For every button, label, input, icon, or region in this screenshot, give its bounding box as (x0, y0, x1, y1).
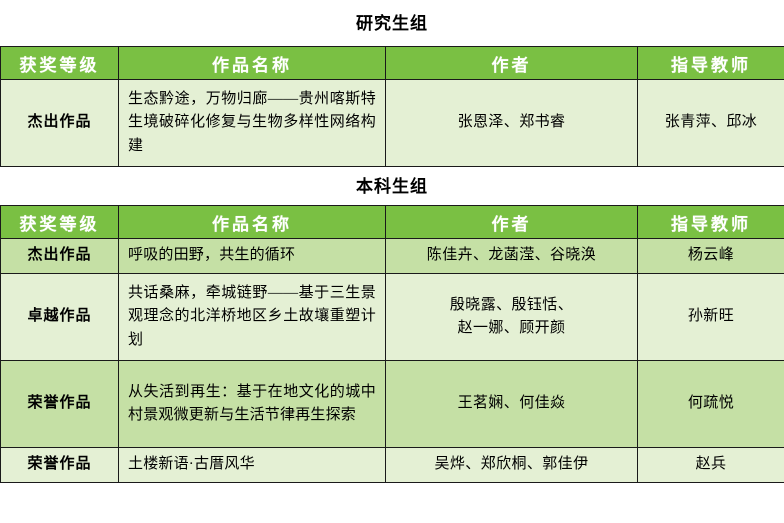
cell-award-level: 荣誉作品 (1, 448, 119, 483)
column-header-mentor: 指导教师 (638, 47, 784, 80)
column-header-level: 获奖等级 (1, 206, 119, 239)
column-header-author: 作者 (386, 206, 638, 239)
table-row: 荣誉作品 从失活到再生：基于在地文化的城中村景观微更新与生活节律再生探索 王茗娴… (1, 361, 784, 448)
cell-award-level: 卓越作品 (1, 274, 119, 361)
cell-authors: 张恩泽、郑书睿 (386, 80, 638, 167)
cell-mentors: 赵兵 (638, 448, 784, 483)
cell-work-title: 土楼新语·古厝风华 (119, 448, 386, 483)
award-table-undergraduate: 获奖等级 作品名称 作者 指导教师 杰出作品 呼吸的田野，共生的循环 陈佳卉、龙… (0, 205, 784, 483)
cell-work-title: 共话桑麻，牵城链野——基于三生景观理念的北洋桥地区乡土故壤重塑计划 (119, 274, 386, 361)
table-row: 杰出作品 生态黔途，万物归廊——贵州喀斯特生境破碎化修复与生物多样性网络构建 张… (1, 80, 784, 167)
cell-award-level: 杰出作品 (1, 239, 119, 274)
cell-authors: 陈佳卉、龙菡滢、谷晓涣 (386, 239, 638, 274)
column-header-mentor: 指导教师 (638, 206, 784, 239)
cell-work-title: 呼吸的田野，共生的循环 (119, 239, 386, 274)
cell-mentors: 杨云峰 (638, 239, 784, 274)
cell-authors: 王茗娴、何佳焱 (386, 361, 638, 448)
table-header-row: 获奖等级 作品名称 作者 指导教师 (1, 206, 784, 239)
cell-work-title: 生态黔途，万物归廊——贵州喀斯特生境破碎化修复与生物多样性网络构建 (119, 80, 386, 167)
cell-award-level: 杰出作品 (1, 80, 119, 167)
cell-work-title: 从失活到再生：基于在地文化的城中村景观微更新与生活节律再生探索 (119, 361, 386, 448)
section-title-text: 研究生组 (356, 15, 428, 32)
cell-authors: 殷晓露、殷钰恬、 赵一娜、顾开颜 (386, 274, 638, 361)
section-title-undergraduate: 本科生组 (0, 167, 784, 205)
award-list-page: 研究生组 获奖等级 作品名称 作者 指导教师 杰出作品 生态黔途，万物归廊——贵… (0, 0, 784, 523)
cell-mentors: 孙新旺 (638, 274, 784, 361)
cell-mentors: 何疏悦 (638, 361, 784, 448)
cell-authors: 吴烨、郑欣桐、郭佳伊 (386, 448, 638, 483)
column-header-level: 获奖等级 (1, 47, 119, 80)
table-row: 卓越作品 共话桑麻，牵城链野——基于三生景观理念的北洋桥地区乡土故壤重塑计划 殷… (1, 274, 784, 361)
column-header-work: 作品名称 (119, 47, 386, 80)
award-table-graduate: 获奖等级 作品名称 作者 指导教师 杰出作品 生态黔途，万物归廊——贵州喀斯特生… (0, 46, 784, 167)
cell-mentors: 张青萍、邱冰 (638, 80, 784, 167)
table-row: 荣誉作品 土楼新语·古厝风华 吴烨、郑欣桐、郭佳伊 赵兵 (1, 448, 784, 483)
column-header-author: 作者 (386, 47, 638, 80)
section-title-graduate: 研究生组 (0, 0, 784, 46)
cell-award-level: 荣誉作品 (1, 361, 119, 448)
table-row: 杰出作品 呼吸的田野，共生的循环 陈佳卉、龙菡滢、谷晓涣 杨云峰 (1, 239, 784, 274)
section-title-text: 本科生组 (356, 178, 428, 195)
table-header-row: 获奖等级 作品名称 作者 指导教师 (1, 47, 784, 80)
column-header-work: 作品名称 (119, 206, 386, 239)
